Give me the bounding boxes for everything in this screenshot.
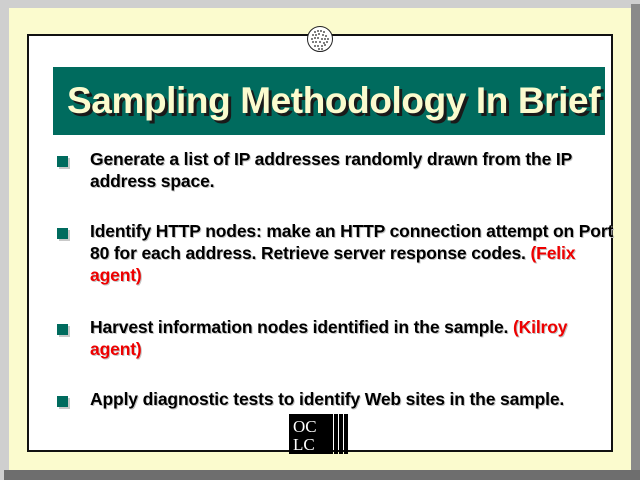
list-item-text-main: Harvest information nodes identified in … xyxy=(90,317,513,337)
list-item-text: Generate a list of IP addresses randomly… xyxy=(90,148,615,192)
window-chrome-right xyxy=(631,4,640,480)
seal-icon xyxy=(306,25,334,53)
oclc-logo-line1: OC xyxy=(293,417,317,436)
window-chrome-left xyxy=(0,0,9,480)
square-bullet-icon xyxy=(57,228,68,239)
slide-title-band: Sampling Methodology In Brief xyxy=(53,67,605,135)
list-item-text: Apply diagnostic tests to identify Web s… xyxy=(90,388,615,410)
square-bullet-icon xyxy=(57,324,68,335)
slide-viewer: Sampling Methodology In Brief Generate a… xyxy=(0,0,640,480)
square-bullet-icon xyxy=(57,156,68,167)
oclc-logo-line2: LC xyxy=(293,435,315,454)
list-item-text-main: Apply diagnostic tests to identify Web s… xyxy=(90,389,564,409)
presentation-slide: Sampling Methodology In Brief Generate a… xyxy=(9,8,631,470)
list-item-text-main: Generate a list of IP addresses randomly… xyxy=(90,149,572,191)
list-item-text: Identify HTTP nodes: make an HTTP connec… xyxy=(90,220,615,286)
list-item-text: Harvest information nodes identified in … xyxy=(90,316,615,360)
page-title: Sampling Methodology In Brief xyxy=(67,71,599,131)
square-bullet-icon xyxy=(57,396,68,407)
oclc-logo: OC LC xyxy=(289,414,353,454)
window-chrome-bottom xyxy=(4,470,640,480)
window-chrome-top xyxy=(0,0,640,8)
